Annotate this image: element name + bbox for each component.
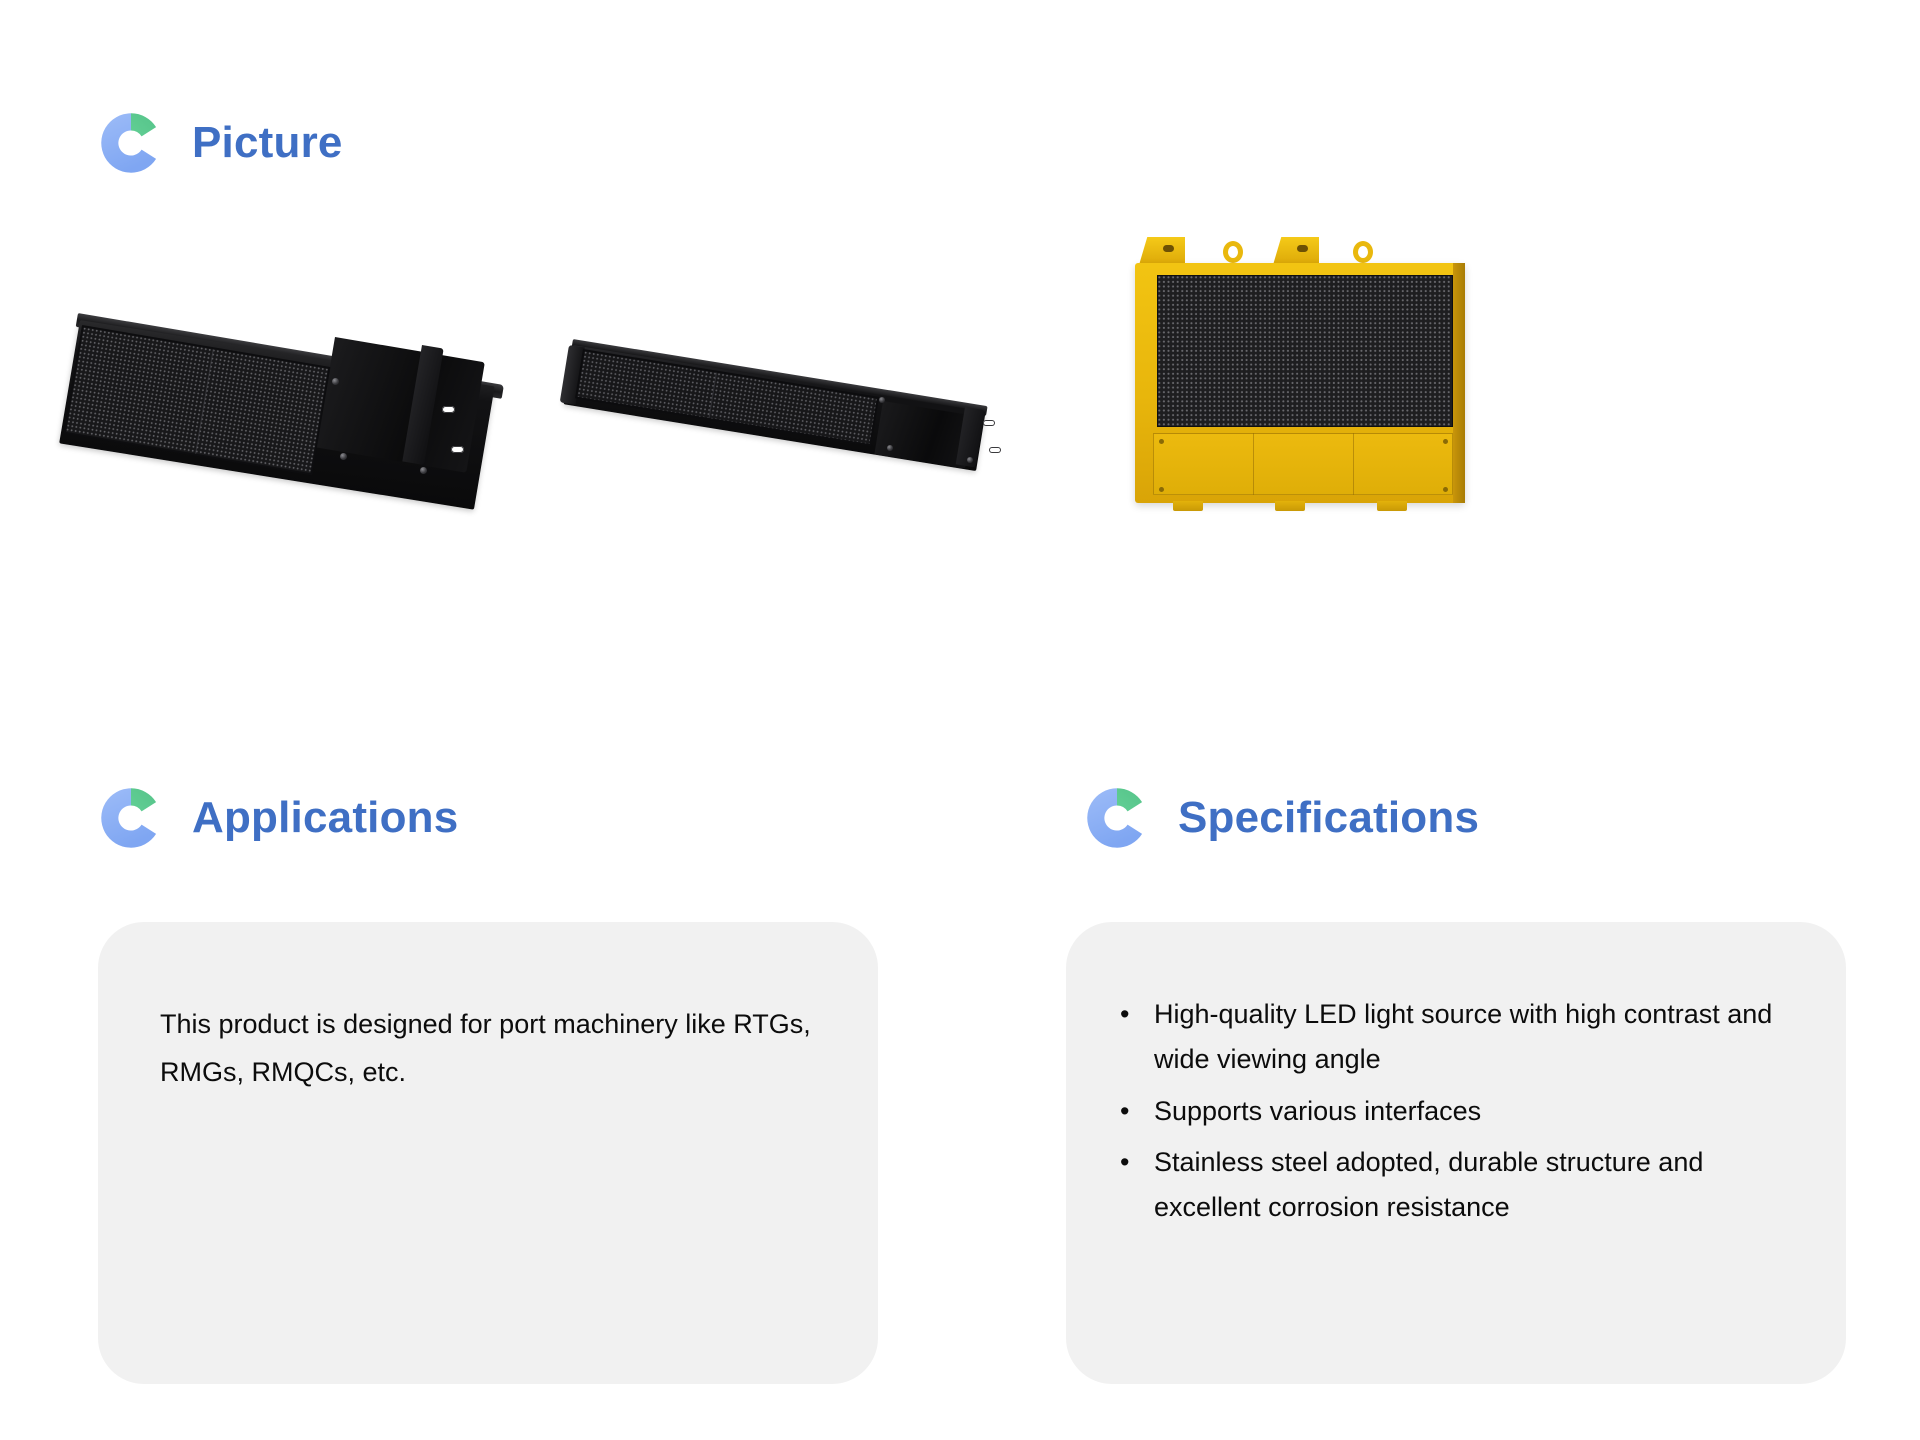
slide-page: Picture [0, 0, 1920, 1440]
product3-base-foot [1173, 501, 1203, 511]
product3-screw [1159, 487, 1164, 492]
product1-screw [340, 453, 347, 460]
product2-bracket-slot [983, 420, 995, 426]
product3-lifting-eye [1353, 241, 1373, 263]
product3-panel-divider [1253, 433, 1254, 495]
product-image-long-black-led-bar-left [70, 275, 570, 525]
product3-lifting-bracket [1139, 237, 1185, 265]
product3-panel-divider [1353, 433, 1354, 495]
product3-bracket-hole [1297, 245, 1308, 252]
product2-screw [967, 457, 973, 463]
section-title-applications: Applications [192, 793, 458, 843]
c-logo-icon [98, 110, 164, 176]
bullet-glyph: • [1120, 992, 1129, 1037]
specifications-list: • High-quality LED light source with hig… [1116, 992, 1794, 1231]
product3-screw [1443, 487, 1448, 492]
product2-bracket-slot [989, 447, 1001, 453]
product3-bracket-hole [1163, 245, 1174, 252]
product3-screw [1443, 439, 1448, 444]
product3-yellow-frame [1135, 263, 1465, 503]
product-image-yellow-framed-led-panel [1125, 215, 1485, 515]
product2-screw [887, 445, 893, 451]
specifications-card: • High-quality LED light source with hig… [1066, 922, 1846, 1384]
product1-bracket-slot [442, 406, 455, 413]
section-heading-picture: Picture [98, 110, 343, 176]
list-item: • Stainless steel adopted, durable struc… [1116, 1140, 1794, 1231]
list-item-label: High-quality LED light source with high … [1154, 999, 1772, 1074]
product1-led-matrix-screen [64, 325, 331, 475]
section-heading-specifications: Specifications [1084, 785, 1479, 851]
product3-lower-service-panel [1153, 433, 1453, 495]
product3-lifting-bracket [1273, 237, 1319, 265]
c-logo-icon [98, 785, 164, 851]
product-picture-strip [0, 250, 1920, 670]
product2-screw [879, 397, 885, 403]
list-item: • High-quality LED light source with hig… [1116, 992, 1794, 1083]
product3-base-foot [1275, 501, 1305, 511]
bullet-glyph: • [1120, 1089, 1129, 1134]
list-item-label: Supports various interfaces [1154, 1096, 1481, 1126]
c-logo-icon [1084, 785, 1150, 851]
product1-screw [332, 378, 339, 385]
applications-paragraph: This product is designed for port machin… [160, 1000, 822, 1096]
product1-bracket-slot [451, 446, 464, 453]
list-item-label: Stainless steel adopted, durable structu… [1154, 1147, 1703, 1222]
product3-led-matrix-screen [1157, 275, 1453, 427]
product3-screw [1159, 439, 1164, 444]
applications-card-body: This product is designed for port machin… [98, 922, 878, 1096]
product3-lifting-eye [1223, 241, 1243, 263]
specifications-card-body: • High-quality LED light source with hig… [1066, 922, 1846, 1231]
list-item: • Supports various interfaces [1116, 1089, 1794, 1134]
bullet-glyph: • [1120, 1140, 1129, 1185]
applications-card: This product is designed for port machin… [98, 922, 878, 1384]
product3-frame-right-edge [1453, 263, 1465, 503]
section-heading-applications: Applications [98, 785, 458, 851]
product3-base-foot [1377, 501, 1407, 511]
product1-screw [420, 467, 427, 474]
section-title-picture: Picture [192, 118, 343, 168]
product-image-long-black-led-bar-center [565, 335, 1025, 535]
section-title-specifications: Specifications [1178, 793, 1479, 843]
